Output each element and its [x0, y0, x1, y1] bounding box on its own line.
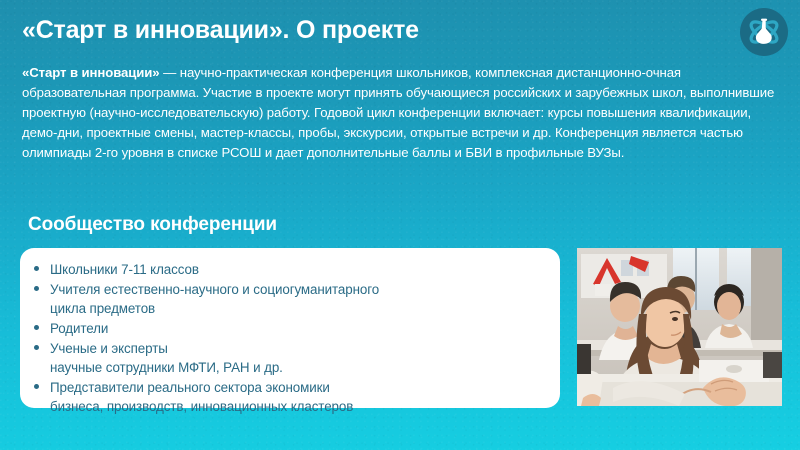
list-item: Школьники 7-11 классов [50, 260, 560, 279]
list-item-main: Ученые и эксперты [50, 341, 168, 356]
list-item-sub: бизнеса, производств, инновационных клас… [50, 397, 560, 416]
page-title: «Старт в инновации». О проекте [22, 16, 419, 45]
list-item-sub: научные сотрудники МФТИ, РАН и др. [50, 358, 560, 377]
list-item-main: Представители реального сектора экономик… [50, 380, 330, 395]
bullet-dot-icon [34, 384, 39, 389]
list-item-sub: цикла предметов [50, 299, 560, 318]
list-item: Родители [50, 319, 560, 338]
classroom-students-photo [577, 248, 782, 406]
intro-lead: «Старт в инновации» [22, 65, 160, 80]
intro-paragraph: «Старт в инновации» — научно-практическа… [22, 63, 782, 163]
list-item-main: Родители [50, 321, 108, 336]
atom-flask-icon [746, 14, 782, 50]
list-item-main: Школьники 7-11 классов [50, 262, 199, 277]
bullet-dot-icon [34, 286, 39, 291]
atom-flask-logo [740, 8, 788, 56]
slide-root: «Старт в инновации». О проекте «Старт в … [0, 0, 800, 450]
list-item: Учителя естественно-научного и социогума… [50, 280, 560, 318]
classroom-photo-illustration [577, 248, 782, 406]
bullet-dot-icon [34, 325, 39, 330]
community-card: Школьники 7-11 классов Учителя естествен… [20, 248, 560, 408]
community-heading: Сообщество конференции [28, 214, 277, 236]
list-item: Представители реального сектора экономик… [50, 378, 560, 416]
community-list: Школьники 7-11 классов Учителя естествен… [20, 248, 560, 416]
bullet-dot-icon [34, 266, 39, 271]
list-item: Ученые и эксперты научные сотрудники МФТ… [50, 339, 560, 377]
list-item-main: Учителя естественно-научного и социогума… [50, 282, 379, 297]
bullet-dot-icon [34, 345, 39, 350]
